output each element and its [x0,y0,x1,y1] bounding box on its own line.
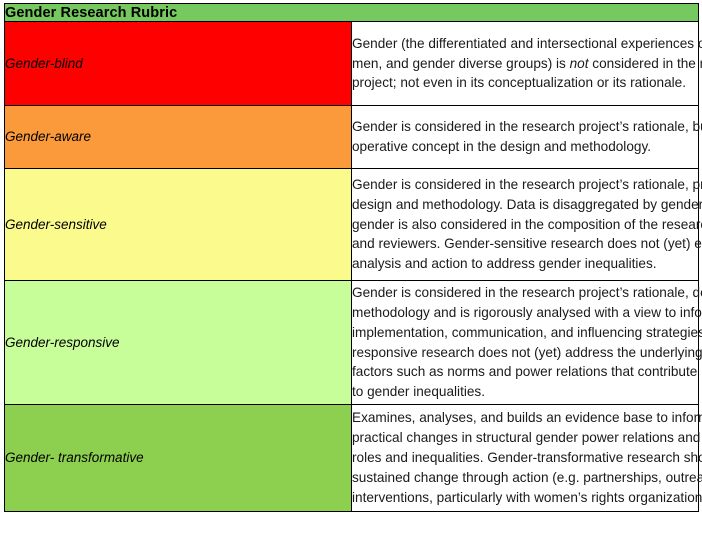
level-label-gender-aware: Gender-aware [5,106,352,169]
level-label-gender-transformative: Gender- transformative [5,405,352,512]
description-gender-responsive: Gender is considered in the research pro… [352,281,699,405]
level-label-gender-responsive: Gender-responsive [5,281,352,405]
table-row: Gender-blind Gender (the differentiated … [5,22,699,106]
table-header-row: Gender Research Rubric [5,4,699,22]
description-line: Gender is considered in the research pro… [352,283,698,303]
description-line: project; not even in its conceptualizati… [352,73,698,93]
description-line: methodology and is rigorously analysed w… [352,303,698,323]
description-line: Examines, analyses, and builds an eviden… [352,408,698,428]
description-line: operative concept in the design and meth… [352,137,698,157]
level-label-gender-blind: Gender-blind [5,22,352,106]
description-line-part: men, and gender diverse groups) is [352,56,570,71]
description-line: factors such as norms and power relation… [352,362,698,382]
description-line: practical changes in structural gender p… [352,428,698,448]
description-line: implementation, communication, and influ… [352,323,698,343]
description-line: Gender (the differentiated and intersect… [352,34,698,54]
description-line: men, and gender diverse groups) is not c… [352,54,698,74]
rubric-page: Gender Research Rubric Gender-blind Gend… [0,0,702,547]
description-line: Gender is considered in the research pro… [352,117,698,137]
description-gender-blind: Gender (the differentiated and intersect… [352,22,699,106]
description-gender-aware: Gender is considered in the research pro… [352,106,699,169]
description-line: gender is also considered in the composi… [352,215,698,235]
description-line: sustained change through action (e.g. pa… [352,468,698,488]
table-row: Gender-sensitive Gender is considered in… [5,169,699,281]
level-label-line: transformative [58,450,144,465]
table-row: Gender- transformative Examines, analyse… [5,405,699,512]
description-line: roles and inequalities. Gender-transform… [352,448,698,468]
description-line: Gender is considered in the research pro… [352,175,698,195]
description-line-part: considered in the research [589,56,702,71]
emphasis-not: not [570,56,589,71]
level-label-line: Gender- [5,450,54,465]
level-label-gender-sensitive: Gender-sensitive [5,169,352,281]
description-line: design and methodology. Data is disaggre… [352,195,698,215]
table-row: Gender-responsive Gender is considered i… [5,281,699,405]
description-gender-transformative: Examines, analyses, and builds an eviden… [352,405,699,512]
description-line: interventions, particularly with women’s… [352,488,698,508]
gender-research-rubric-table: Gender Research Rubric Gender-blind Gend… [4,3,699,512]
description-gender-sensitive: Gender is considered in the research pro… [352,169,699,281]
table-row: Gender-aware Gender is considered in the… [5,106,699,169]
description-line: and reviewers. Gender-sensitive research… [352,234,698,254]
page-title: Gender Research Rubric [5,4,699,22]
description-line: to gender inequalities. [352,382,698,402]
description-line: responsive research does not (yet) addre… [352,343,698,363]
description-line: analysis and action to address gender in… [352,254,698,274]
